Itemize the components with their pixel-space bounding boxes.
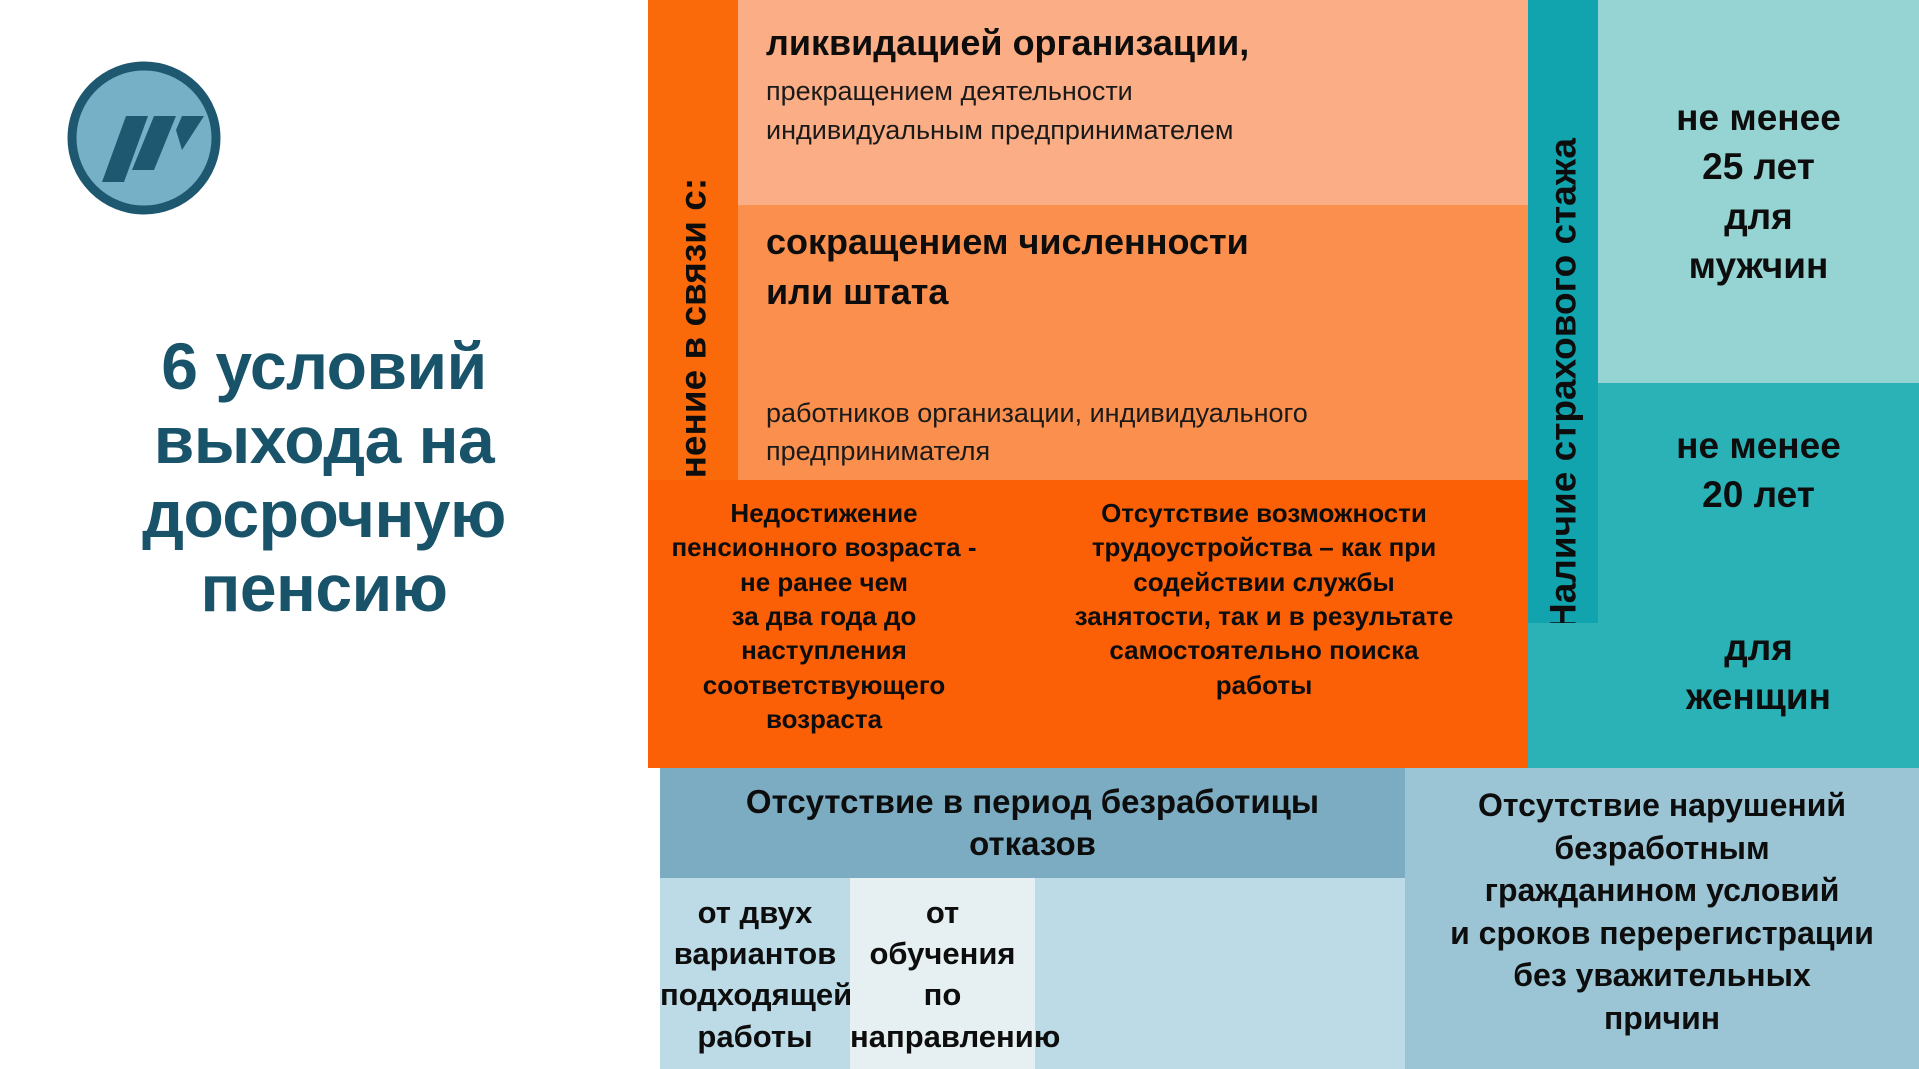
- organization-logo: [64, 58, 224, 218]
- insurance-women-line-3: для: [1598, 623, 1919, 672]
- insurance-women-text: не менее 20 лет: [1676, 421, 1841, 519]
- page-title: 6 условий выхода на досрочную пенсию: [20, 330, 628, 626]
- two-options-line-4: работы: [660, 1016, 850, 1057]
- card-no-employment-opportunity: Отсутствие возможности трудоустройства –…: [1000, 480, 1528, 768]
- training-refusal-line-2: направлению: [850, 1016, 1035, 1057]
- logo-icon: [64, 58, 224, 218]
- insurance-women-line-4: женщин: [1598, 672, 1919, 721]
- card-pension-age: Недостижение пенсионного возраста - не р…: [648, 480, 1000, 768]
- no-employment-line-2: трудоустройства – как при: [1010, 530, 1518, 564]
- insurance-women-text-continued: для женщин: [1528, 623, 1919, 721]
- no-violations-line-1: Отсутствие нарушений: [1405, 784, 1919, 827]
- pension-age-line-3: не ранее чем: [658, 565, 990, 599]
- no-violations-line-5: без уважительных: [1405, 954, 1919, 997]
- no-employment-line-4: занятости, так и в результате: [1010, 599, 1518, 633]
- reduction-heading-line-2: или штата: [766, 271, 1500, 313]
- page-title-line-1: 6 условий: [20, 330, 628, 404]
- insurance-women-line-2: 20 лет: [1676, 470, 1841, 519]
- pension-age-line-4: за два года до: [658, 599, 990, 633]
- pension-age-line-2: пенсионного возраста -: [658, 530, 990, 564]
- no-violations-line-2: безработным: [1405, 827, 1919, 870]
- card-liquidation: ликвидацией организации, прекращением де…: [738, 0, 1528, 205]
- reduction-sub-line-1: работников организации, индивидуального: [766, 394, 1500, 432]
- card-no-violations: Отсутствие нарушений безработным граждан…: [1405, 768, 1919, 1069]
- page-title-line-2: выхода на: [20, 404, 628, 478]
- no-employment-line-5: самостоятельно поиска: [1010, 633, 1518, 667]
- two-options-line-3: подходящей: [660, 974, 850, 1015]
- pension-age-line-5: наступления: [658, 633, 990, 667]
- insurance-men-line-4: мужчин: [1676, 241, 1841, 290]
- refusals-heading: Отсутствие в период безработицы отказов: [746, 781, 1319, 865]
- no-employment-text: Отсутствие возможности трудоустройства –…: [1010, 496, 1518, 702]
- no-violations-line-4: и сроков перерегистрации: [1405, 912, 1919, 955]
- insurance-vertical-label: Наличие страхового стажа: [1545, 138, 1582, 630]
- card-insurance-women: не менее 20 лет: [1598, 383, 1919, 623]
- pension-age-line-1: Недостижение: [658, 496, 990, 530]
- liquidation-heading: ликвидацией организации,: [766, 22, 1500, 64]
- insurance-men-line-2: 25 лет: [1676, 142, 1841, 191]
- infographic-slide: 6 условий выхода на досрочную пенсию Уво…: [0, 0, 1919, 1069]
- insurance-men-line-1: не менее: [1676, 93, 1841, 142]
- bottom-filler-panel: [1035, 878, 1405, 1069]
- card-insurance-men: не менее 25 лет для мужчин: [1598, 0, 1919, 383]
- training-refusal-text: от обучения по направлению органов служб…: [850, 892, 1035, 1069]
- insurance-men-text: не менее 25 лет для мужчин: [1676, 93, 1841, 290]
- pension-age-text: Недостижение пенсионного возраста - не р…: [658, 496, 990, 736]
- page-title-line-4: пенсию: [20, 552, 628, 626]
- card-training-refusal: от обучения по направлению органов служб…: [850, 878, 1035, 1069]
- card-refusals-heading: Отсутствие в период безработицы отказов: [660, 768, 1405, 878]
- reduction-sub-line-2: предпринимателя: [766, 432, 1500, 470]
- two-options-line-2: вариантов: [660, 933, 850, 974]
- no-violations-line-6: причин: [1405, 997, 1919, 1040]
- card-reduction: сокращением численности или штата: [738, 205, 1528, 394]
- training-refusal-line-1: от обучения по: [850, 892, 1035, 1016]
- no-employment-line-3: содействии службы: [1010, 565, 1518, 599]
- refusals-heading-line-1: Отсутствие в период безработицы: [746, 781, 1319, 823]
- refusals-heading-line-2: отказов: [746, 823, 1319, 865]
- insurance-men-line-3: для: [1676, 192, 1841, 241]
- card-insurance-women-continued: для женщин: [1528, 623, 1919, 768]
- no-violations-line-3: гражданином условий: [1405, 869, 1919, 912]
- no-employment-line-6: работы: [1010, 668, 1518, 702]
- two-options-text: от двух вариантов подходящей работы: [660, 892, 850, 1057]
- liquidation-sub-line-1: прекращением деятельности: [766, 72, 1500, 110]
- training-refusal-line-3: органов службы: [850, 1057, 1035, 1069]
- no-employment-line-1: Отсутствие возможности: [1010, 496, 1518, 530]
- left-panel: 6 условий выхода на досрочную пенсию: [0, 0, 648, 1069]
- insurance-women-line-1: не менее: [1676, 421, 1841, 470]
- reduction-heading-line-1: сокращением численности: [766, 221, 1500, 263]
- liquidation-sub-line-2: индивидуальным предпринимателем: [766, 111, 1500, 149]
- no-violations-text: Отсутствие нарушений безработным граждан…: [1405, 784, 1919, 1039]
- card-reduction-subtext: работников организации, индивидуального …: [738, 394, 1528, 480]
- pension-age-line-7: возраста: [658, 702, 990, 736]
- two-options-line-1: от двух: [660, 892, 850, 933]
- card-two-suitable-job-options: от двух вариантов подходящей работы: [660, 878, 850, 1069]
- pension-age-line-6: соответствующего: [658, 668, 990, 702]
- page-title-line-3: досрочную: [20, 478, 628, 552]
